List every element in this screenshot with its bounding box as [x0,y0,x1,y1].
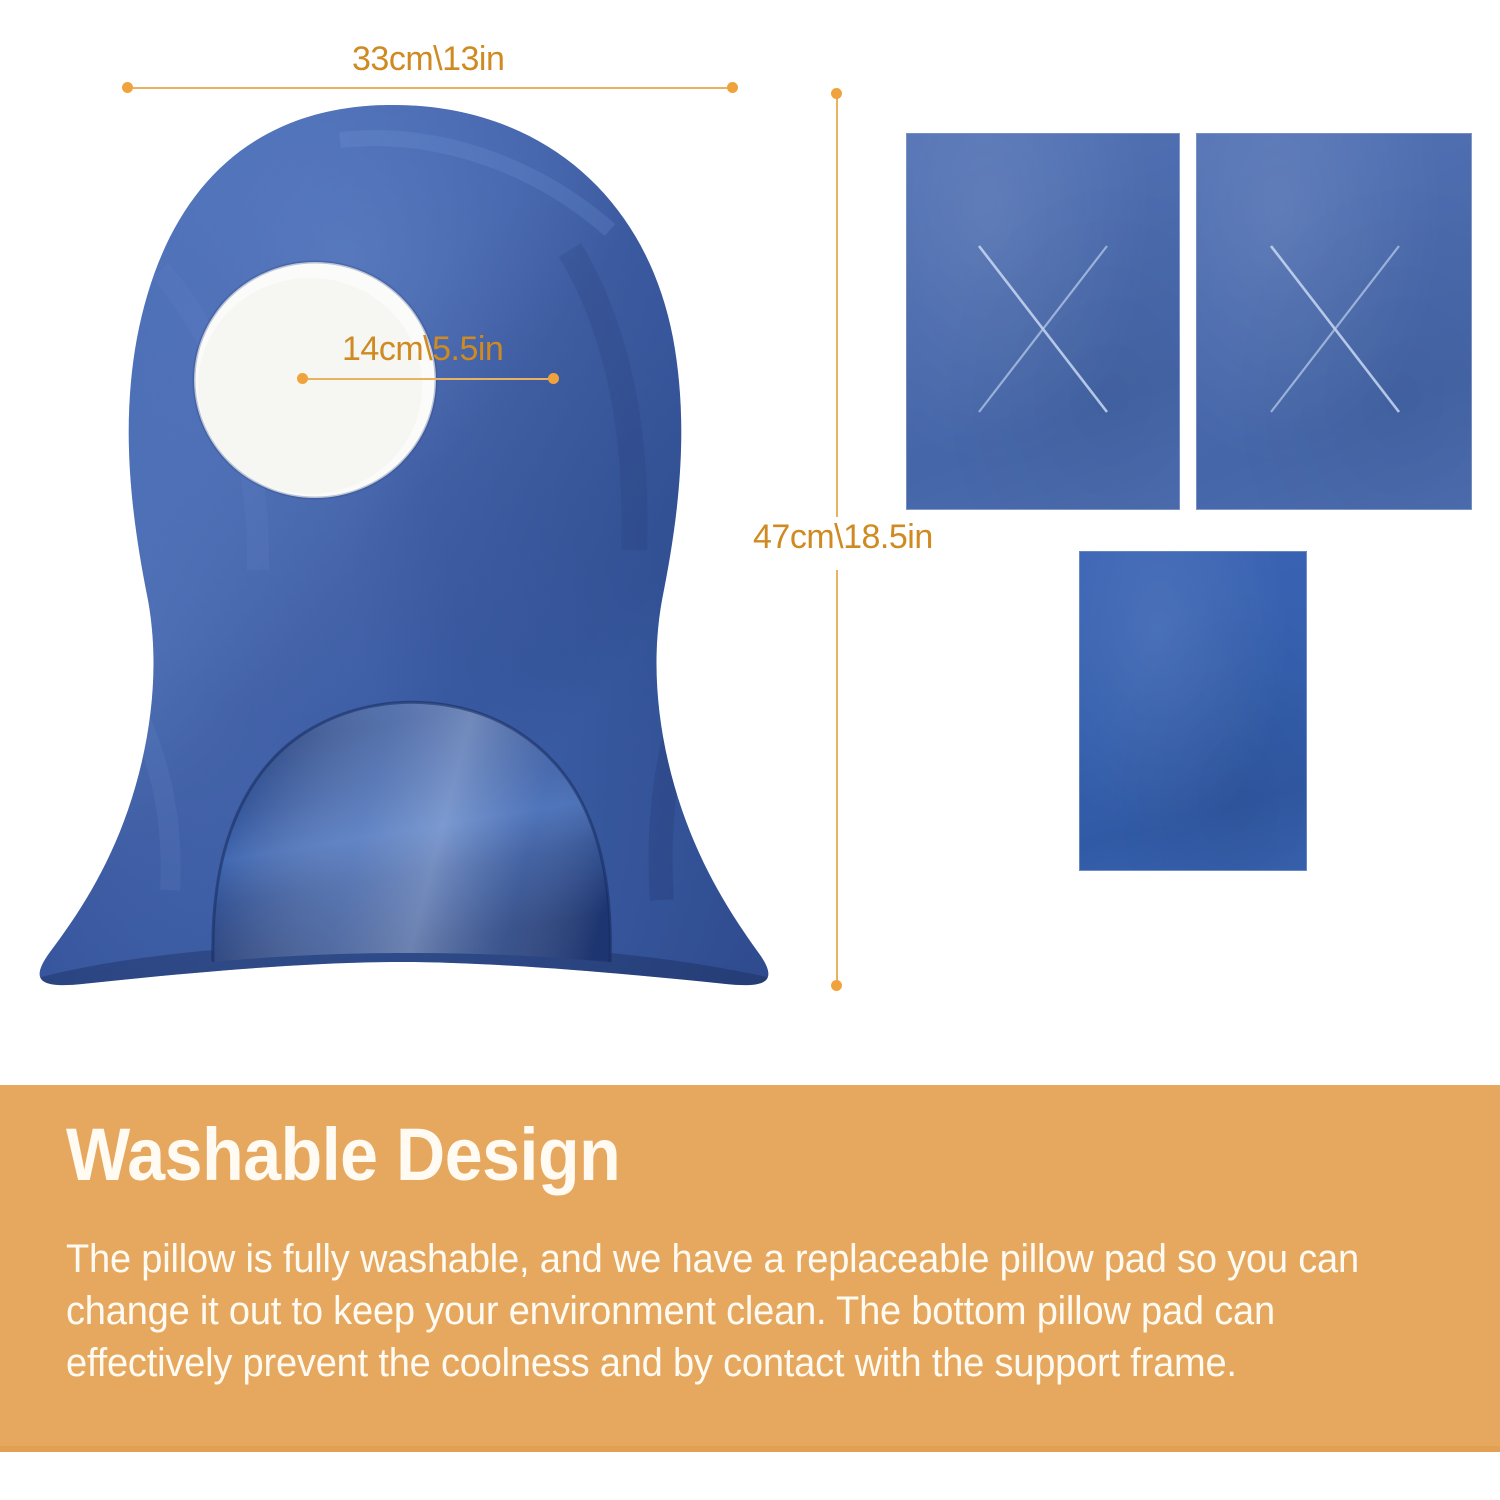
dimension-dot-width-right [727,82,738,93]
dimension-label-hole: 14cm\5.5in [342,330,503,369]
swatch-pad-plain [1079,551,1307,871]
product-photo-area: 33cm\13in 14cm\5.5in 47cm\18.5in [0,0,1500,1085]
dimension-dot-hole-left [297,373,308,384]
dimension-dot-width-left [122,82,133,93]
banner-body-text: The pillow is fully washable, and we hav… [66,1233,1396,1389]
dimension-dot-height-top [831,88,842,99]
dimension-label-width: 33cm\13in [352,40,504,79]
swatch-pad-cover-2 [1196,133,1472,510]
dimension-dot-hole-right [548,373,559,384]
pillow-image [10,100,810,990]
banner-heading: Washable Design [66,1118,620,1192]
dimension-line-height-lower [836,570,838,985]
dimension-line-height-upper [836,93,838,517]
dimension-line-width [130,87,732,89]
dimension-label-height: 47cm\18.5in [753,518,933,557]
pillow-graphic [10,100,810,990]
dimension-line-hole [304,378,554,380]
x-fold-lines-icon [1197,134,1471,509]
center-hole [194,262,436,498]
dimension-dot-height-bottom [831,980,842,991]
product-infographic: 33cm\13in 14cm\5.5in 47cm\18.5in [0,0,1500,1500]
x-fold-lines-icon [907,134,1179,509]
banner-underline-strip [0,1446,1500,1452]
swatch-pad-cover-1 [906,133,1180,510]
